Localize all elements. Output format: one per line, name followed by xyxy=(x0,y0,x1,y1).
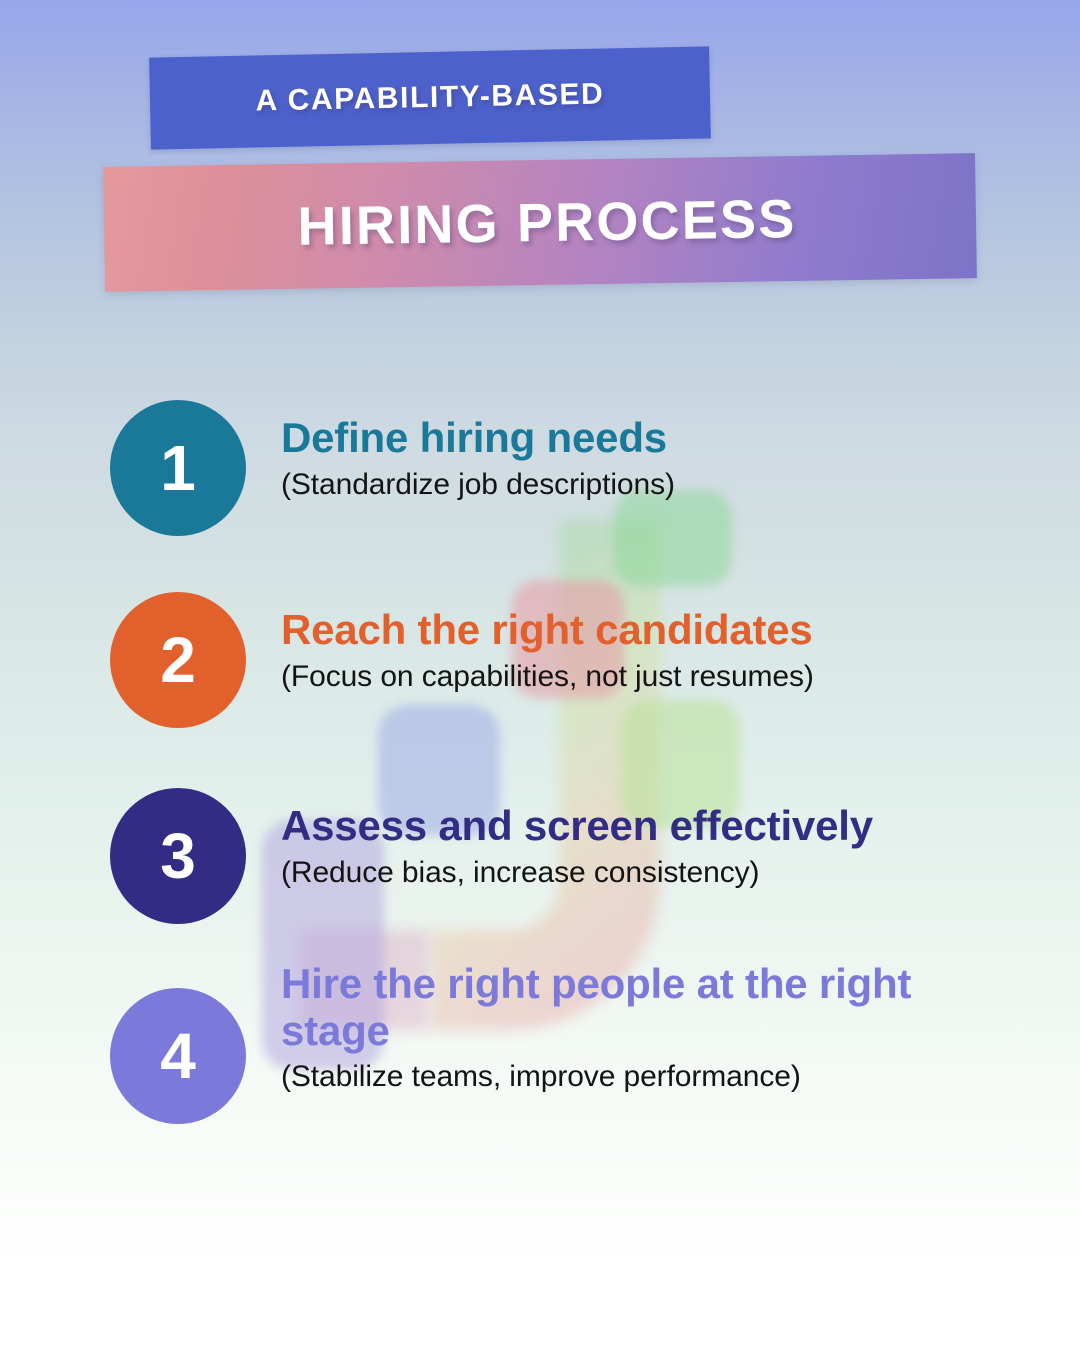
step-number-3: 3 xyxy=(160,824,196,888)
process-step-2: 2 Reach the right candidates (Focus on c… xyxy=(0,584,1080,774)
step-number-badge-4: 4 xyxy=(110,988,246,1124)
step-title-3: Assess and screen effectively xyxy=(281,802,1061,849)
step-text-block-4: Hire the right people at the right stage… xyxy=(281,960,1021,1095)
step-text-block-1: Define hiring needs (Standardize job des… xyxy=(281,414,1061,503)
step-subtitle-1: (Standardize job descriptions) xyxy=(281,467,1061,503)
step-number-2: 2 xyxy=(160,628,196,692)
step-subtitle-2: (Focus on capabilities, not just resumes… xyxy=(281,659,1061,695)
step-title-2: Reach the right candidates xyxy=(281,606,1061,653)
step-text-block-3: Assess and screen effectively (Reduce bi… xyxy=(281,802,1061,891)
poster-canvas: A CAPABILITY-BASED HIRING PROCESS 1 Defi… xyxy=(0,0,1080,1350)
step-number-1: 1 xyxy=(160,436,196,500)
step-title-4: Hire the right people at the right stage xyxy=(281,960,1021,1055)
step-subtitle-4: (Stabilize teams, improve performance) xyxy=(281,1059,1021,1095)
step-number-badge-3: 3 xyxy=(110,788,246,924)
step-number-badge-2: 2 xyxy=(110,592,246,728)
step-number-4: 4 xyxy=(160,1024,196,1088)
kicker-text: A CAPABILITY-BASED xyxy=(149,46,711,149)
process-step-3: 3 Assess and screen effectively (Reduce … xyxy=(0,780,1080,970)
step-title-1: Define hiring needs xyxy=(281,414,1061,461)
process-step-1: 1 Define hiring needs (Standardize job d… xyxy=(0,392,1080,582)
step-subtitle-3: (Reduce bias, increase consistency) xyxy=(281,855,1061,891)
step-number-badge-1: 1 xyxy=(110,400,246,536)
step-text-block-2: Reach the right candidates (Focus on cap… xyxy=(281,606,1061,695)
process-step-4: 4 Hire the right people at the right sta… xyxy=(0,960,1080,1150)
page-title: HIRING PROCESS xyxy=(103,153,977,292)
